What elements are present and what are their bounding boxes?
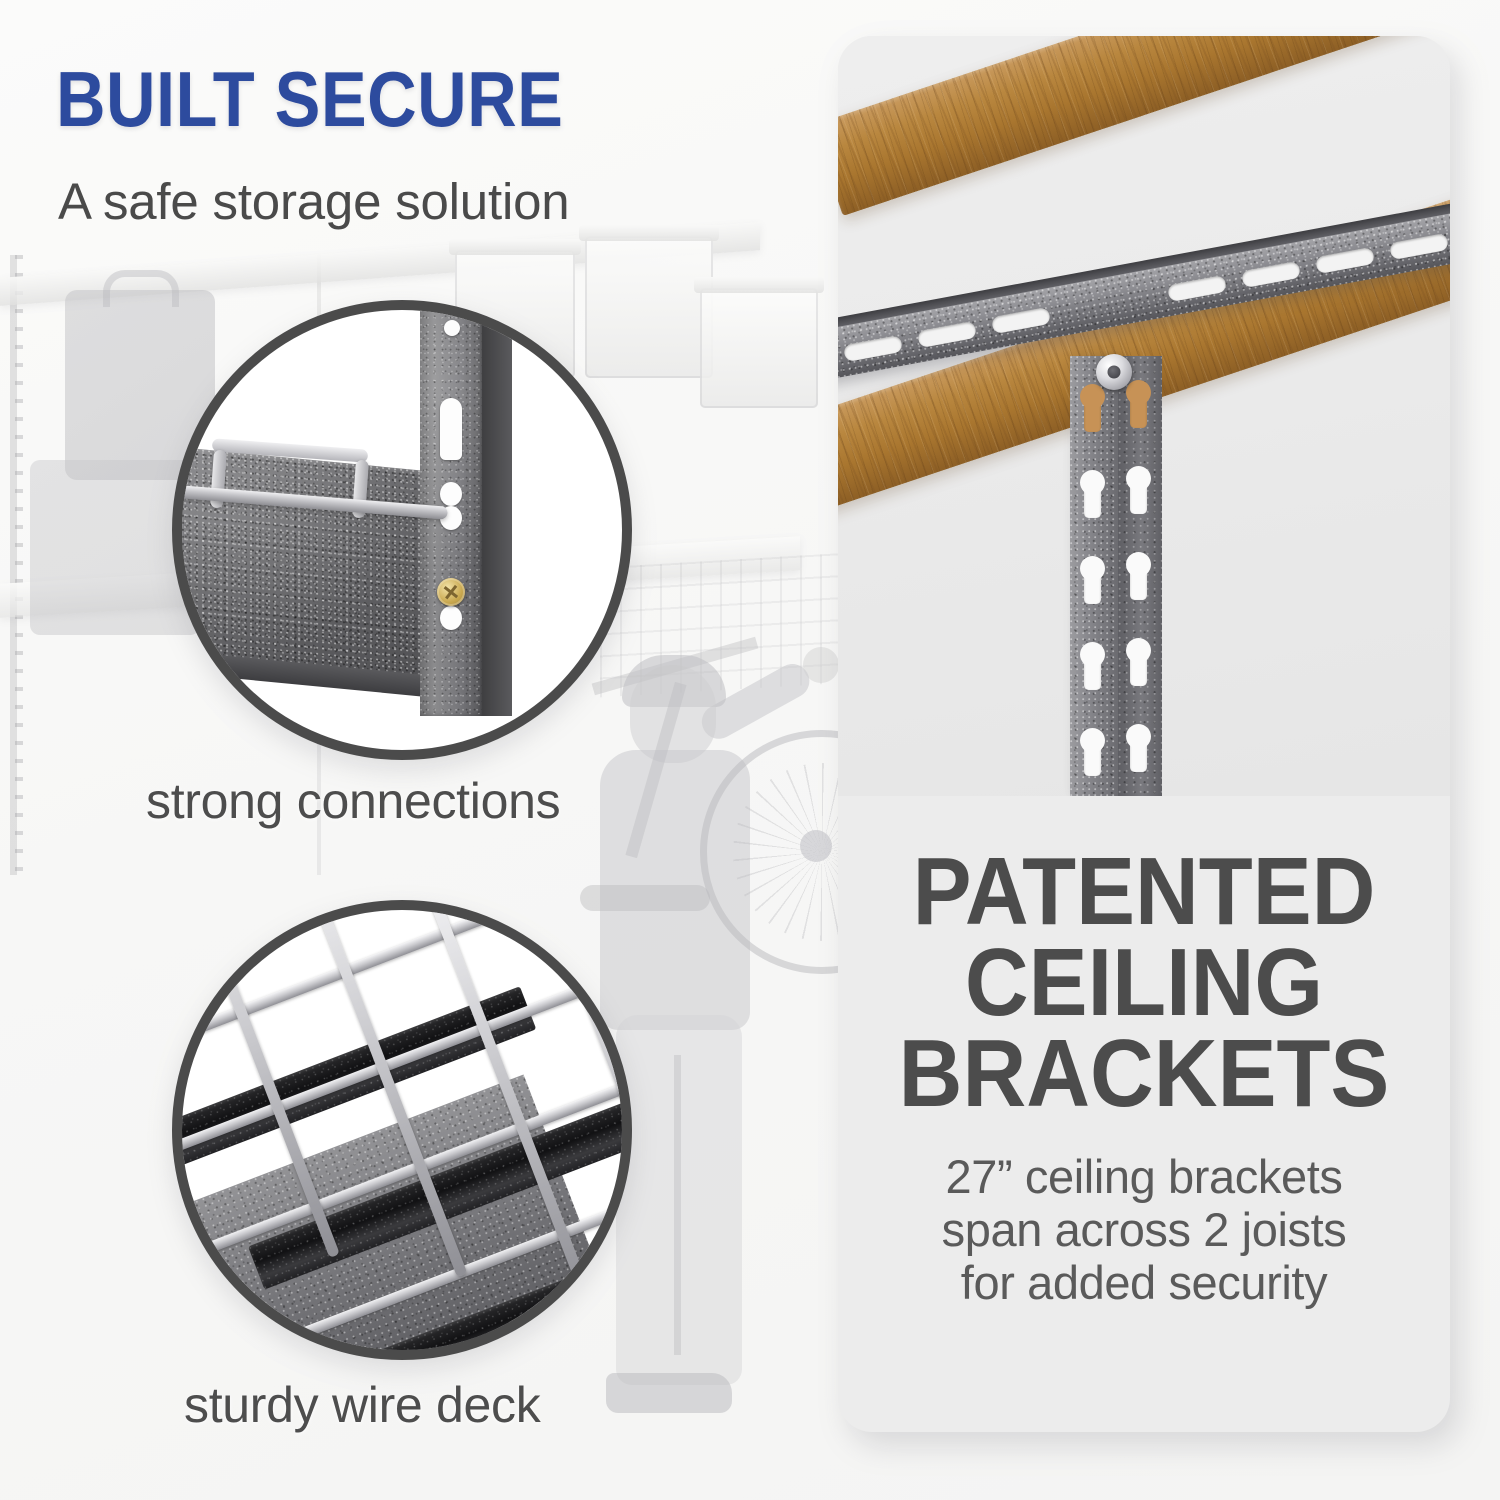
person-shoe — [606, 1373, 732, 1413]
card-title: PATENTED CEILING BRACKETS — [886, 846, 1401, 1120]
ceiling-bracket-card: PATENTED CEILING BRACKETS 27” ceiling br… — [838, 36, 1450, 1432]
page-subheadline: A safe storage solution — [58, 172, 569, 231]
person-cap — [622, 655, 726, 707]
upright-post-edge — [482, 300, 512, 716]
keyhole-slot — [1130, 470, 1147, 514]
person-arm — [696, 658, 816, 745]
card-subtitle: 27” ceiling brackets span across 2 joist… — [864, 1150, 1424, 1309]
keyhole-slot — [1130, 642, 1147, 686]
bicycle-hub — [800, 830, 832, 862]
feature-caption-strong-connections: strong connections — [146, 772, 560, 830]
wire-deck-illustration — [182, 910, 622, 1350]
feature-photo-strong-connections — [172, 300, 632, 760]
keyhole-slot — [1130, 384, 1147, 428]
keyhole-slot — [1084, 560, 1101, 604]
card-title-line: CEILING — [886, 937, 1401, 1028]
keyhole-slot — [440, 606, 462, 630]
background-wire-mesh — [600, 553, 840, 698]
screw-icon — [437, 578, 465, 606]
keyhole-slot — [1084, 646, 1101, 690]
card-subtitle-line: 27” ceiling brackets — [864, 1150, 1424, 1203]
person-legs — [616, 1015, 742, 1385]
card-title-line: BRACKETS — [886, 1028, 1401, 1119]
bicycle-wheel — [700, 730, 840, 974]
keyhole-slot — [444, 320, 460, 336]
card-subtitle-line: for added security — [864, 1256, 1424, 1309]
wood-joist — [838, 36, 1450, 216]
keyhole-slot — [440, 482, 462, 506]
ceiling-bracket-photo — [838, 36, 1450, 796]
product-feature-poster: BUILT SECURE A safe storage solution str… — [0, 0, 1500, 1500]
card-text-block: PATENTED CEILING BRACKETS 27” ceiling br… — [838, 846, 1450, 1309]
background-storage-bin — [700, 288, 818, 408]
card-subtitle-line: span across 2 joists — [864, 1203, 1424, 1256]
keyhole-slot — [440, 398, 462, 460]
keyhole-slot — [1130, 556, 1147, 600]
bicycle-fork — [625, 682, 686, 858]
bracket-connection-illustration — [182, 310, 622, 750]
bolt-icon — [1096, 354, 1132, 390]
keyhole-slot — [1084, 388, 1101, 432]
background-bicycle-icon — [700, 690, 840, 1020]
page-headline: BUILT SECURE — [56, 62, 563, 137]
keyhole-slot — [1130, 728, 1147, 772]
feature-photo-sturdy-wire-deck — [172, 900, 632, 1360]
background-shelf-top — [0, 222, 760, 306]
card-title-line: PATENTED — [886, 846, 1401, 937]
feature-caption-sturdy-wire-deck: sturdy wire deck — [184, 1376, 540, 1434]
bicycle-pedal — [580, 885, 710, 911]
keyhole-slot — [1084, 732, 1101, 776]
person-torso — [600, 750, 750, 1030]
person-hand — [803, 647, 839, 683]
person-head — [630, 665, 716, 763]
keyhole-slot — [1084, 474, 1101, 518]
